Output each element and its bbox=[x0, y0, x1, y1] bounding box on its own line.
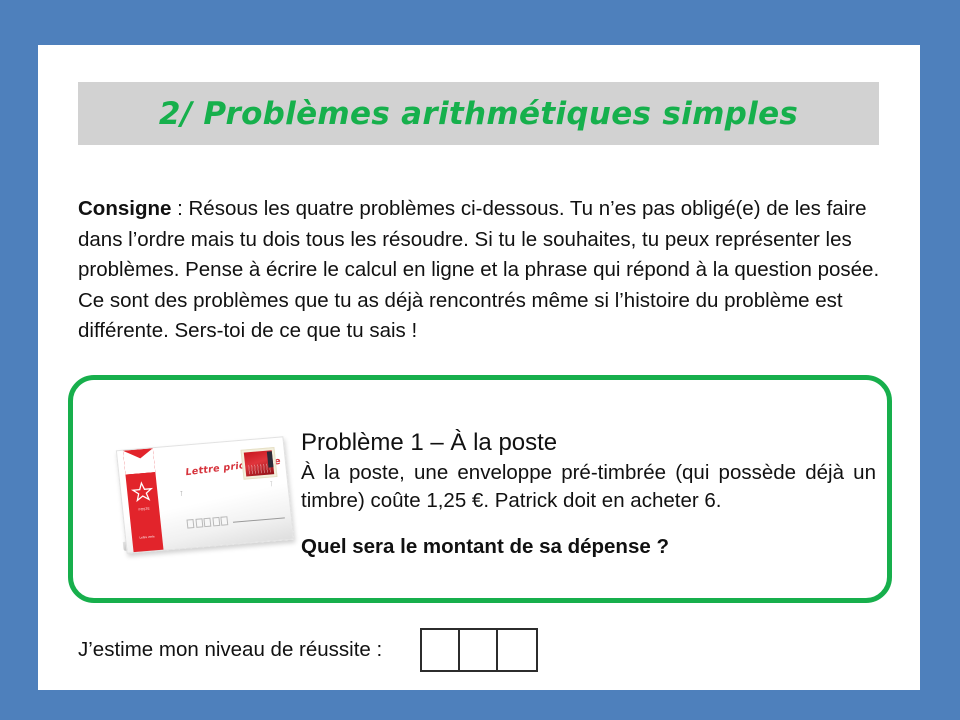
envelope-body: POSTE Lettre verte Lettre prioritaire ⊺ … bbox=[116, 436, 294, 553]
stamp-barcode bbox=[267, 451, 274, 467]
title-band: 2/ Problèmes arithmétiques simples bbox=[78, 82, 879, 145]
self-assessment-boxes bbox=[420, 628, 538, 672]
instructions-separator: : bbox=[171, 197, 188, 220]
postcode-cell bbox=[186, 519, 194, 529]
star-icon bbox=[130, 480, 154, 504]
problem-title: Problème 1 – À la poste bbox=[301, 428, 876, 457]
self-assessment-cell[interactable] bbox=[422, 630, 460, 670]
postage-stamp-icon bbox=[240, 447, 277, 480]
problem-text-block: Problème 1 – À la poste À la poste, une … bbox=[301, 428, 876, 559]
postcode-cell bbox=[203, 518, 211, 528]
envelope-illustration: POSTE Lettre verte Lettre prioritaire ⊺ … bbox=[121, 435, 293, 565]
problem-statement: À la poste, une enveloppe pré-timbrée (q… bbox=[301, 459, 876, 515]
envelope-mark-right: ⊺ bbox=[269, 480, 273, 488]
slide-card: 2/ Problèmes arithmétiques simples Consi… bbox=[38, 45, 920, 690]
self-assessment-row: J’estime mon niveau de réussite : bbox=[78, 625, 638, 675]
page-title: 2/ Problèmes arithmétiques simples bbox=[159, 96, 798, 132]
postcode-cell bbox=[212, 517, 220, 527]
problem-question: Quel sera le montant de sa dépense ? bbox=[301, 535, 876, 559]
self-assessment-cell[interactable] bbox=[460, 630, 498, 670]
instructions-label: Consigne bbox=[78, 197, 171, 220]
envelope-postcode-boxes bbox=[186, 516, 228, 528]
instructions-paragraph: Consigne : Résous les quatre problèmes c… bbox=[78, 194, 886, 347]
self-assessment-label: J’estime mon niveau de réussite : bbox=[78, 638, 382, 662]
self-assessment-cell[interactable] bbox=[498, 630, 536, 670]
envelope-mark-left: ⊺ bbox=[179, 490, 183, 498]
problem-card: POSTE Lettre verte Lettre prioritaire ⊺ … bbox=[68, 375, 892, 603]
envelope-address-line bbox=[233, 517, 285, 522]
postcode-cell bbox=[195, 518, 203, 528]
postcode-cell bbox=[220, 516, 228, 526]
instructions-text: Résous les quatre problèmes ci-dessous. … bbox=[78, 197, 879, 342]
